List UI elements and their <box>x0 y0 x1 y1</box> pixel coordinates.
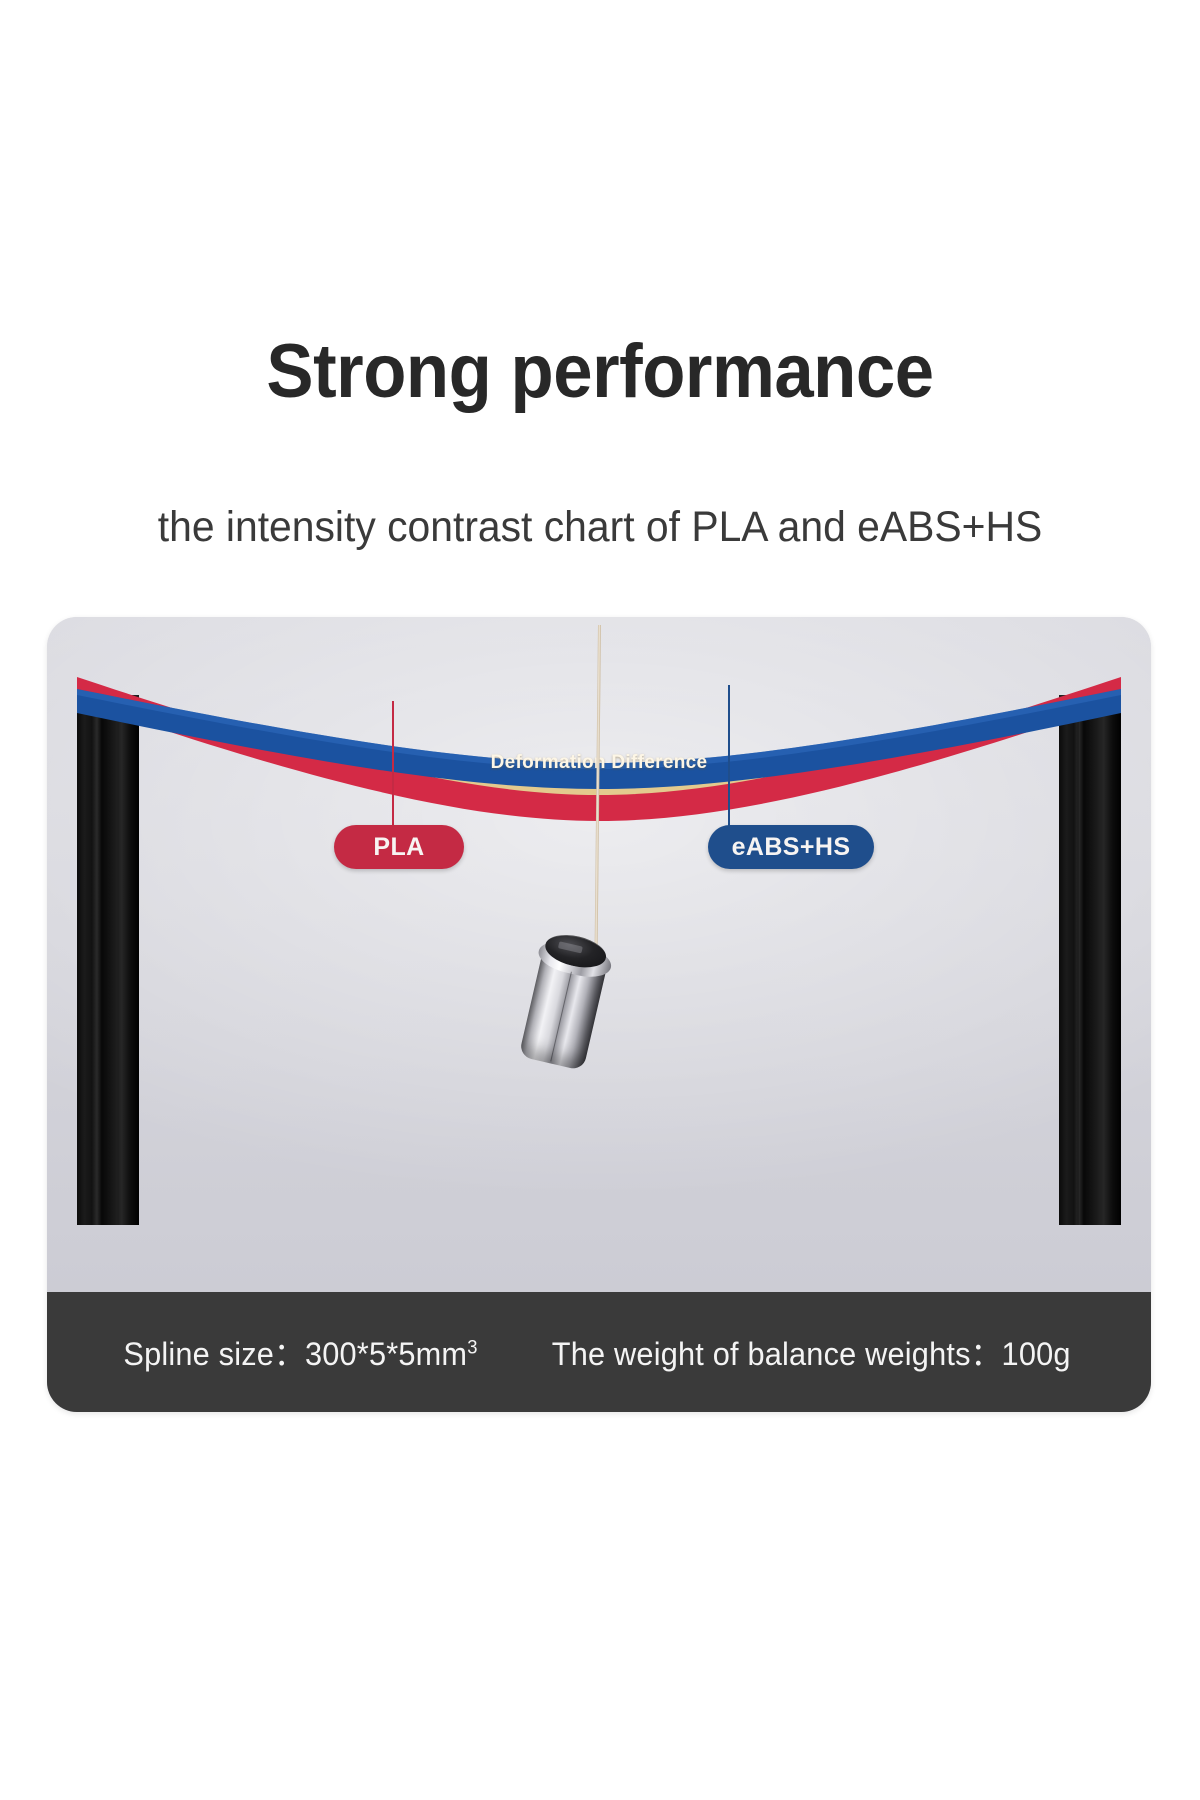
pla-leader-line <box>392 701 394 827</box>
spline-size-exponent: 3 <box>467 1337 477 1358</box>
balance-weight-value: 100g <box>1002 1336 1071 1372</box>
support-post-left <box>77 695 139 1225</box>
badge-eabs-hs-label: eABS+HS <box>732 833 851 862</box>
support-post-right <box>1059 695 1121 1225</box>
balance-weight-spec: The weight of balance weights：100g <box>552 1329 1071 1375</box>
spec-caption-bar: Spline size：300*5*5mm3 The weight of bal… <box>47 1292 1151 1412</box>
deformation-demo-card: Deformation Difference PLA eABS+HS Splin… <box>47 617 1151 1412</box>
page-root: Strong performance the intensity contras… <box>0 0 1200 1800</box>
balance-weight-label: The weight of balance weights： <box>552 1336 1002 1372</box>
page-title: Strong performance <box>42 324 1158 420</box>
post-groove-right <box>1077 695 1079 1225</box>
eabs-leader-line <box>728 685 730 827</box>
badge-pla[interactable]: PLA <box>334 825 464 869</box>
post-groove-left <box>117 695 119 1225</box>
page-subtitle: the intensity contrast chart of PLA and … <box>30 498 1170 556</box>
spline-size-label: Spline size： <box>124 1336 306 1372</box>
badge-eabs-hs[interactable]: eABS+HS <box>708 825 874 869</box>
spline-size-spec: Spline size：300*5*5mm3 <box>124 1329 478 1375</box>
badge-pla-label: PLA <box>373 833 424 862</box>
post-cap-right <box>1059 695 1121 699</box>
post-cap-left <box>77 695 139 699</box>
spline-size-value: 300*5*5mm <box>305 1336 467 1372</box>
